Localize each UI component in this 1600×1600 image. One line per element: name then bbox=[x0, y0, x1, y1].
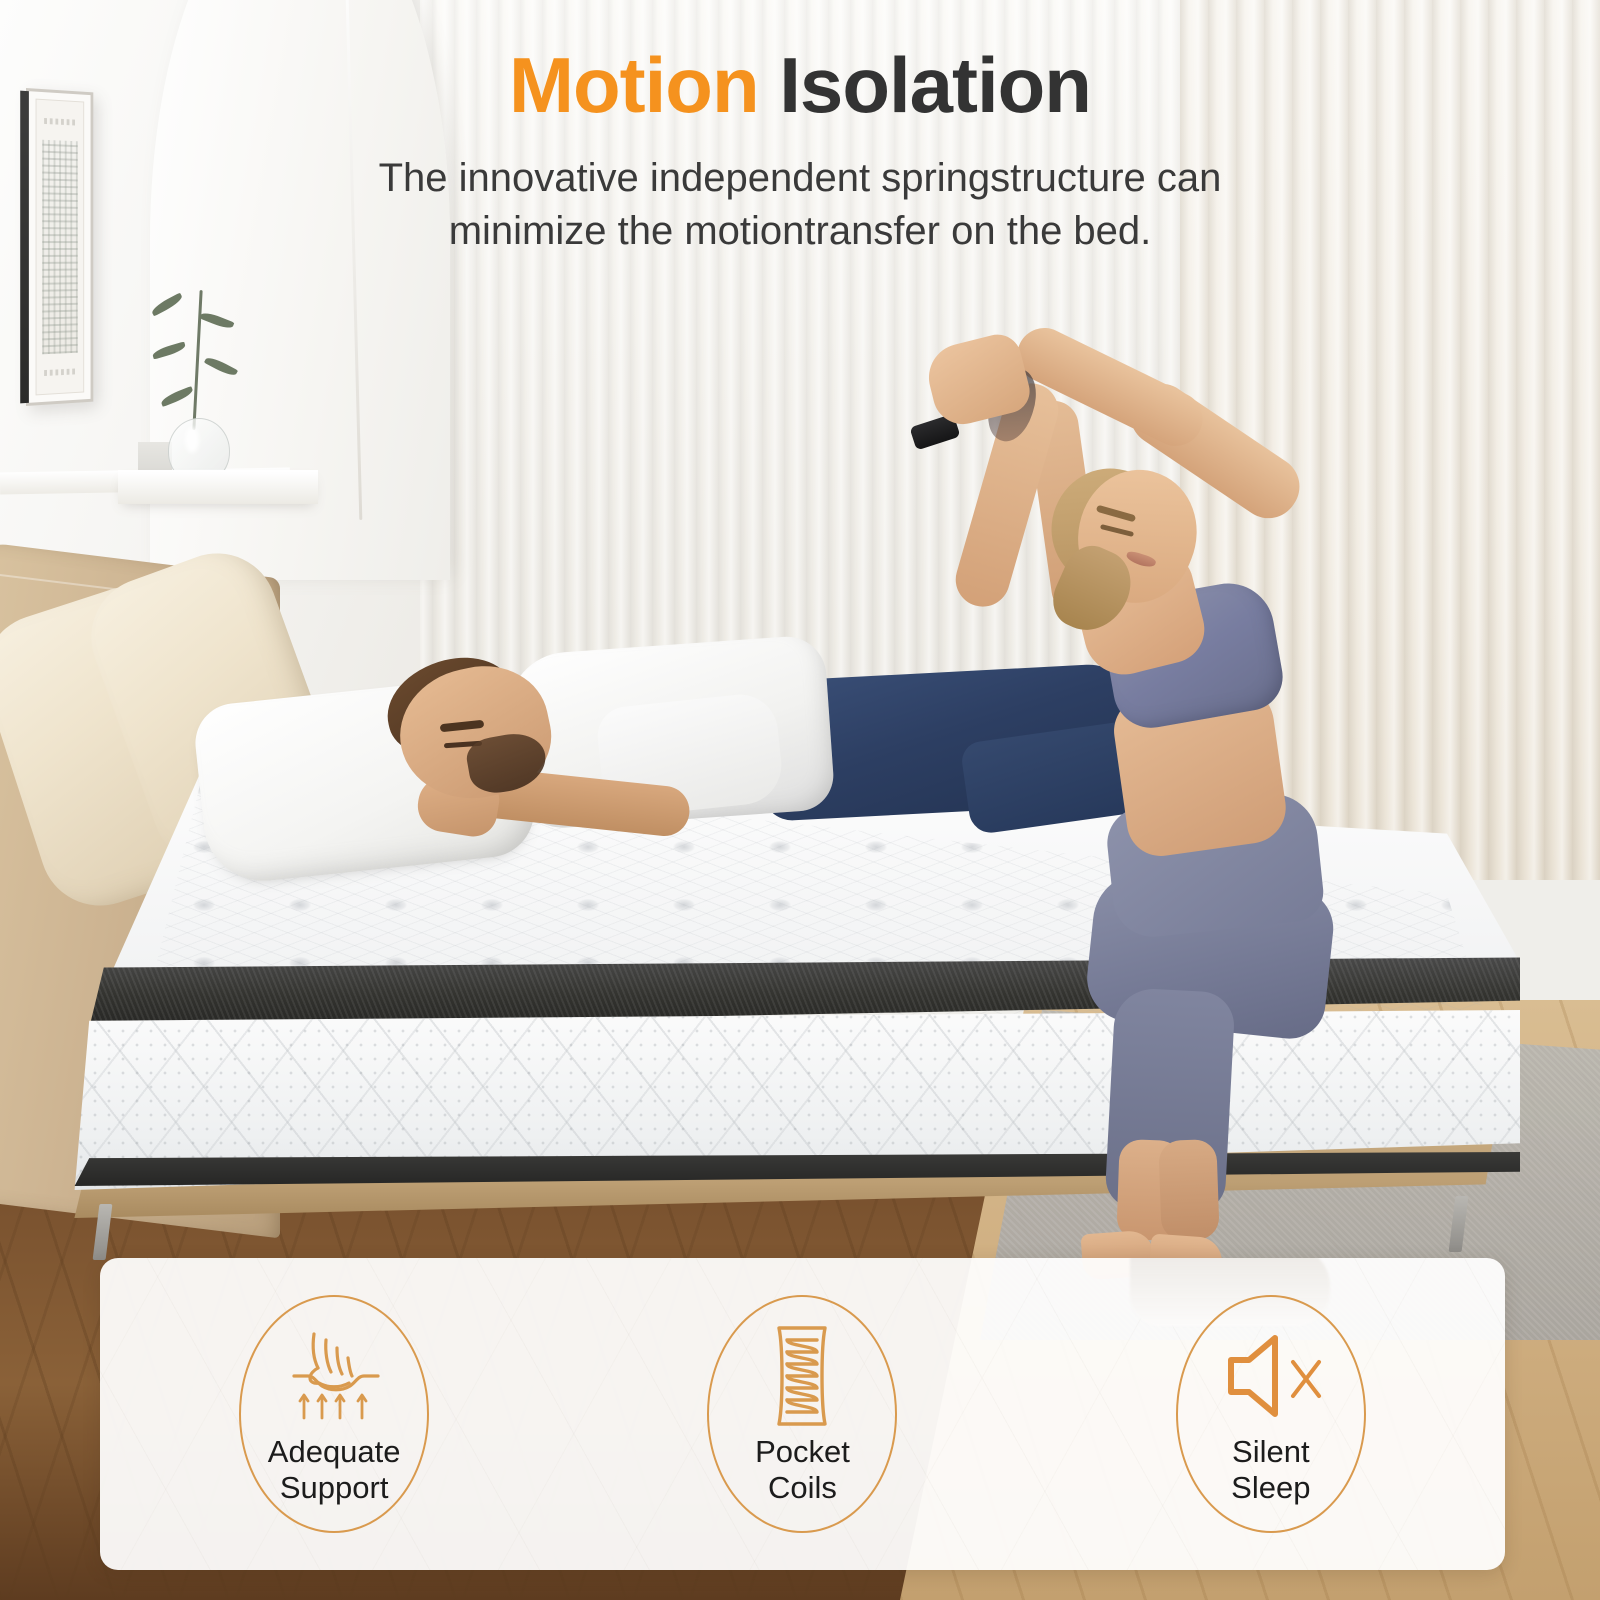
feature-label-line-2: Support bbox=[268, 1470, 401, 1506]
feature-pocket-coils[interactable]: Pocket Coils bbox=[568, 1258, 1036, 1570]
feature-label: Adequate Support bbox=[268, 1434, 401, 1506]
feature-label: Pocket Coils bbox=[755, 1434, 850, 1506]
feature-badge: Adequate Support bbox=[239, 1295, 429, 1533]
feature-label-line-2: Sleep bbox=[1231, 1470, 1310, 1506]
headline-accent-word: Motion bbox=[509, 41, 759, 129]
feature-list: Adequate Support bbox=[100, 1258, 1505, 1570]
feature-adequate-support[interactable]: Adequate Support bbox=[100, 1258, 568, 1570]
feature-label-line-1: Adequate bbox=[268, 1434, 401, 1470]
pocket-coil-spring-icon bbox=[759, 1322, 845, 1430]
headline: Motion Isolation bbox=[0, 46, 1600, 126]
feature-panel: Adequate Support bbox=[100, 1258, 1505, 1570]
wall-ledge bbox=[118, 470, 318, 504]
feature-badge: Silent Sleep bbox=[1176, 1295, 1366, 1533]
muted-speaker-icon bbox=[1215, 1322, 1327, 1430]
headline-main-word: Isolation bbox=[779, 41, 1091, 129]
subtext-line-1: The innovative independent springstructu… bbox=[0, 152, 1600, 205]
feature-label-line-1: Silent bbox=[1231, 1434, 1310, 1470]
feature-label: Silent Sleep bbox=[1231, 1434, 1310, 1506]
hand-pressing-support-icon bbox=[274, 1322, 394, 1430]
woman-shin bbox=[1158, 1139, 1219, 1241]
product-image-stage: Motion Isolation The innovative independ… bbox=[0, 0, 1600, 1600]
subtext: The innovative independent springstructu… bbox=[0, 152, 1600, 258]
feature-badge: Pocket Coils bbox=[707, 1295, 897, 1533]
feature-silent-sleep[interactable]: Silent Sleep bbox=[1037, 1258, 1505, 1570]
subtext-line-2: minimize the motiontransfer on the bed. bbox=[0, 205, 1600, 258]
feature-label-line-2: Coils bbox=[755, 1470, 850, 1506]
feature-label-line-1: Pocket bbox=[755, 1434, 850, 1470]
